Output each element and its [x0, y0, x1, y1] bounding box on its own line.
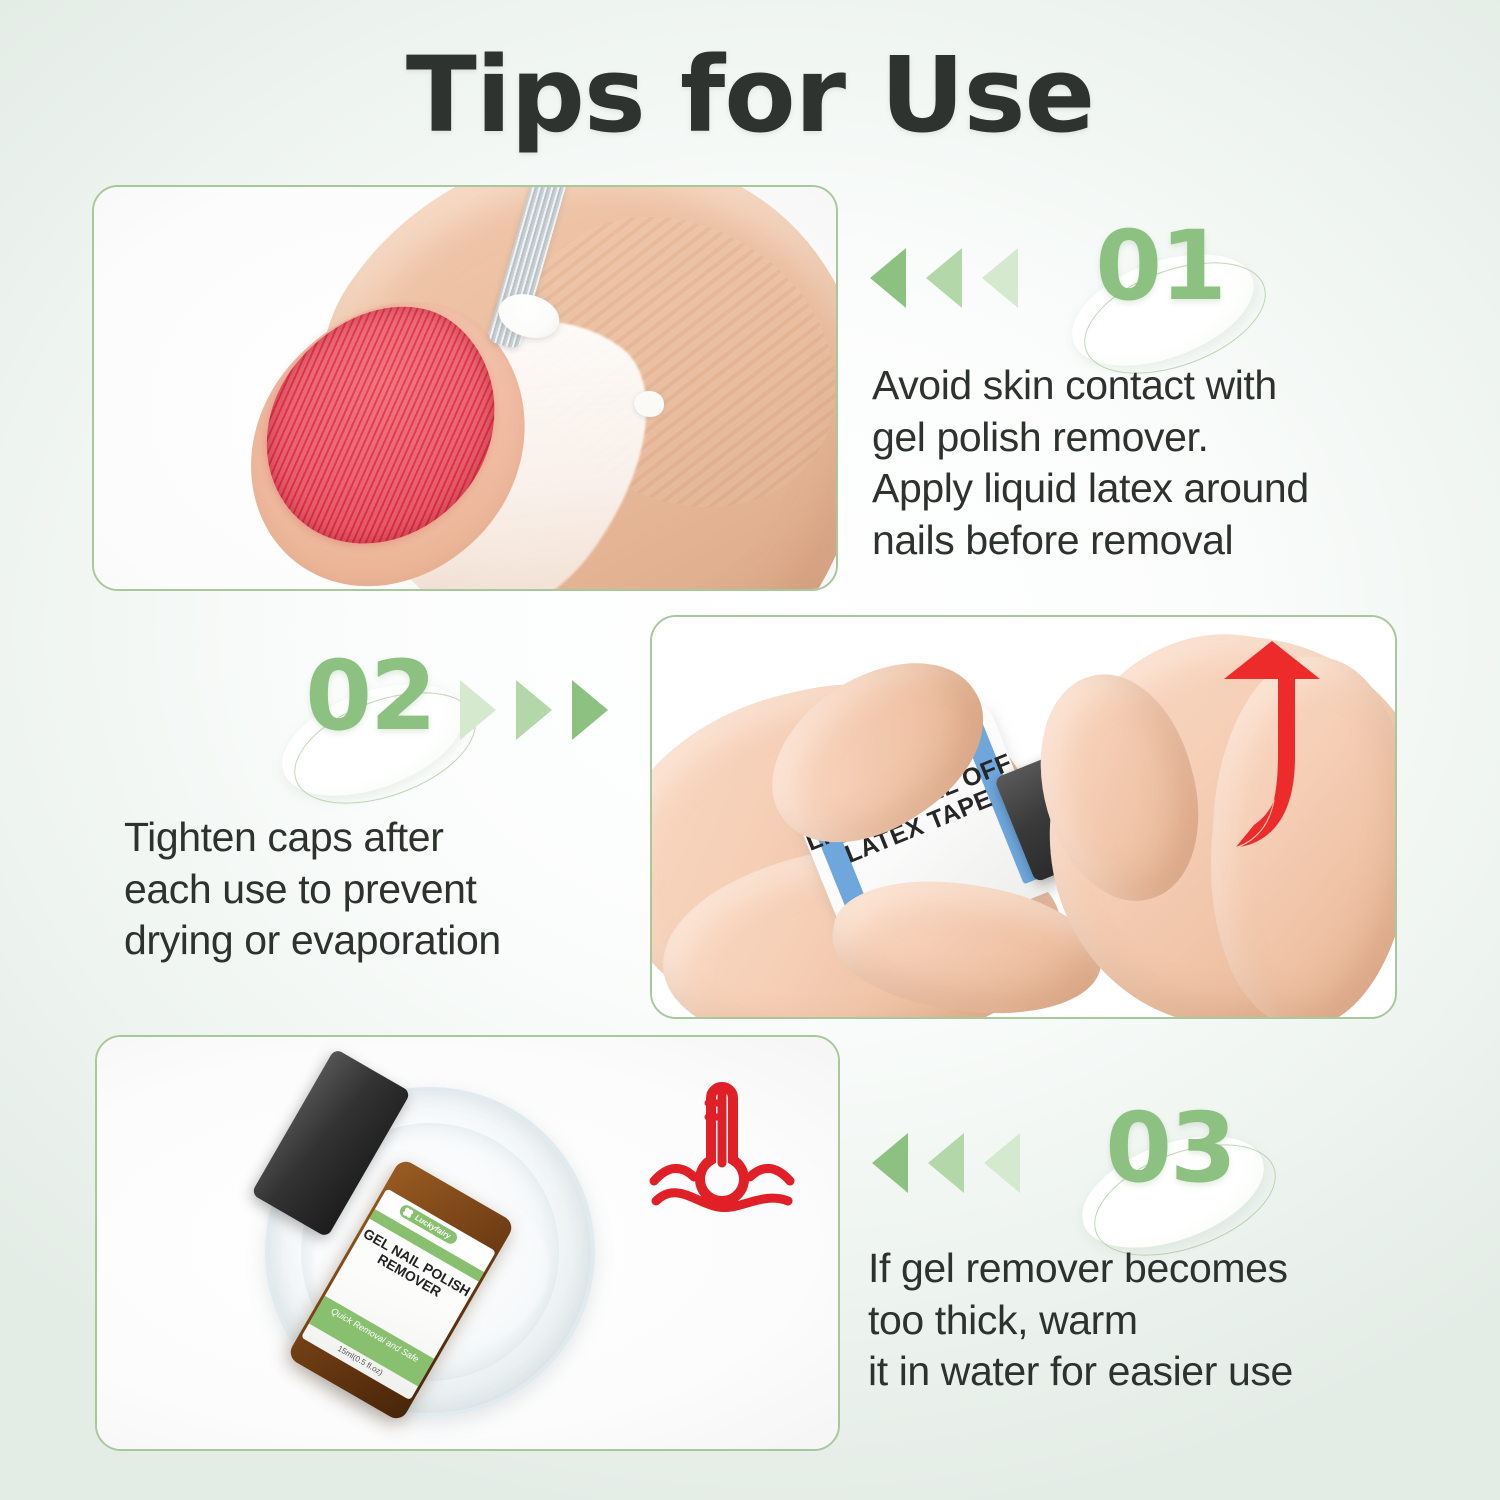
- latex-droplet: [634, 391, 664, 417]
- curved-twist-arrow-icon: [1132, 637, 1392, 927]
- step-badge-03: 03: [1040, 1100, 1300, 1260]
- step-1-text: Avoid skin contact with gel polish remov…: [872, 360, 1432, 567]
- triangle-left-icon: [870, 248, 906, 308]
- triangle-left-icon: [872, 1133, 908, 1193]
- photo-bottle-in-water: Luckyfairy GEL NAIL POLISH REMOVER Quick…: [97, 1037, 838, 1449]
- step-2-text: Tighten caps after each use to prevent d…: [124, 812, 644, 967]
- step-number-03: 03: [1040, 1100, 1300, 1196]
- triangle-right-icon: [572, 680, 608, 740]
- triangle-right-icon: [460, 680, 496, 740]
- infographic-page: Tips for Use 01 Avoid skin contact with …: [0, 0, 1500, 1500]
- step-1-arrow-group: [870, 248, 1018, 308]
- step-number-01: 01: [1030, 218, 1290, 314]
- step-2-arrow-group: [460, 680, 608, 740]
- step-badge-01: 01: [1030, 218, 1290, 378]
- triangle-right-icon: [516, 680, 552, 740]
- step-3-text: If gel remover becomes too thick, warm i…: [868, 1243, 1408, 1398]
- step-3-photo-frame: Luckyfairy GEL NAIL POLISH REMOVER Quick…: [95, 1035, 840, 1451]
- warm-water-thermometer-icon: [642, 1077, 802, 1227]
- triangle-left-icon: [982, 248, 1018, 308]
- step-1-photo-frame: [92, 185, 838, 591]
- triangle-left-icon: [928, 1133, 964, 1193]
- step-2-photo-frame: Luckyfairy Skin Barrier & Cuticle Protec…: [650, 615, 1397, 1019]
- photo-hands-bottle: Luckyfairy Skin Barrier & Cuticle Protec…: [652, 617, 1395, 1017]
- triangle-left-icon: [926, 248, 962, 308]
- step-3-arrow-group: [872, 1133, 1020, 1193]
- triangle-left-icon: [984, 1133, 1020, 1193]
- photo-nail-latex: [94, 187, 836, 589]
- page-title: Tips for Use: [0, 34, 1500, 156]
